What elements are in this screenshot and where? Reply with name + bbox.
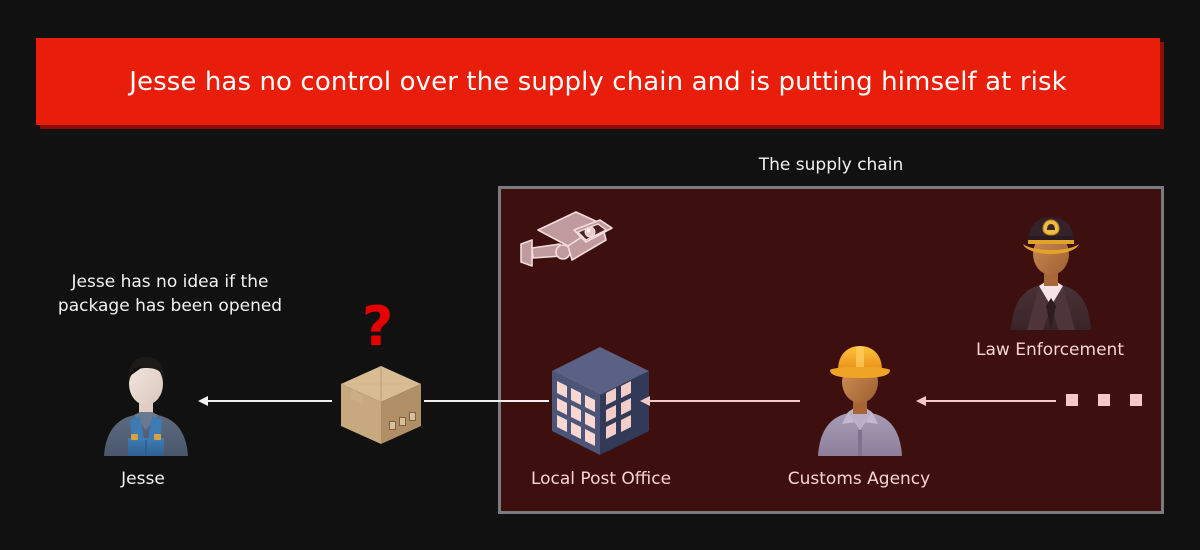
cardboard-box-icon: [339, 364, 423, 446]
square-marker: [1098, 394, 1110, 406]
arrow-shaft: [922, 400, 1056, 402]
arrow-shaft: [204, 400, 332, 402]
square-marker: [1130, 394, 1142, 406]
police-officer-icon: [1003, 210, 1099, 330]
node-label-law-enforcement: Law Enforcement: [900, 340, 1200, 360]
office-building-icon: [548, 345, 653, 457]
jesse-note-line-2: package has been opened: [20, 294, 320, 318]
arrow-shaft: [424, 400, 549, 402]
arrow-postoffice-to-package: [424, 400, 549, 402]
jesse-note: Jesse has no idea if the package has bee…: [20, 270, 320, 318]
square-marker: [1066, 394, 1078, 406]
node-label-customs: Customs Agency: [759, 469, 959, 489]
banner-text: Jesse has no control over the supply cha…: [129, 67, 1067, 97]
arrow-dots-to-customs: [916, 400, 1056, 402]
node-label-jesse: Jesse: [43, 469, 243, 489]
jesse-note-line-1: Jesse has no idea if the: [20, 270, 320, 294]
person-overalls-icon: [100, 344, 192, 456]
warning-banner: Jesse has no control over the supply cha…: [36, 38, 1160, 125]
arrow-shaft: [646, 400, 800, 402]
worker-hardhat-icon: [812, 338, 908, 456]
supply-chain-title: The supply chain: [498, 155, 1164, 175]
node-label-post-office: Local Post Office: [501, 469, 701, 489]
three-squares-icon: [1066, 394, 1146, 408]
arrow-package-to-jesse: [198, 400, 332, 402]
arrow-customs-to-postoffice: [640, 400, 800, 402]
cctv-camera-icon: [516, 200, 616, 272]
question-mark: ?: [362, 300, 393, 354]
